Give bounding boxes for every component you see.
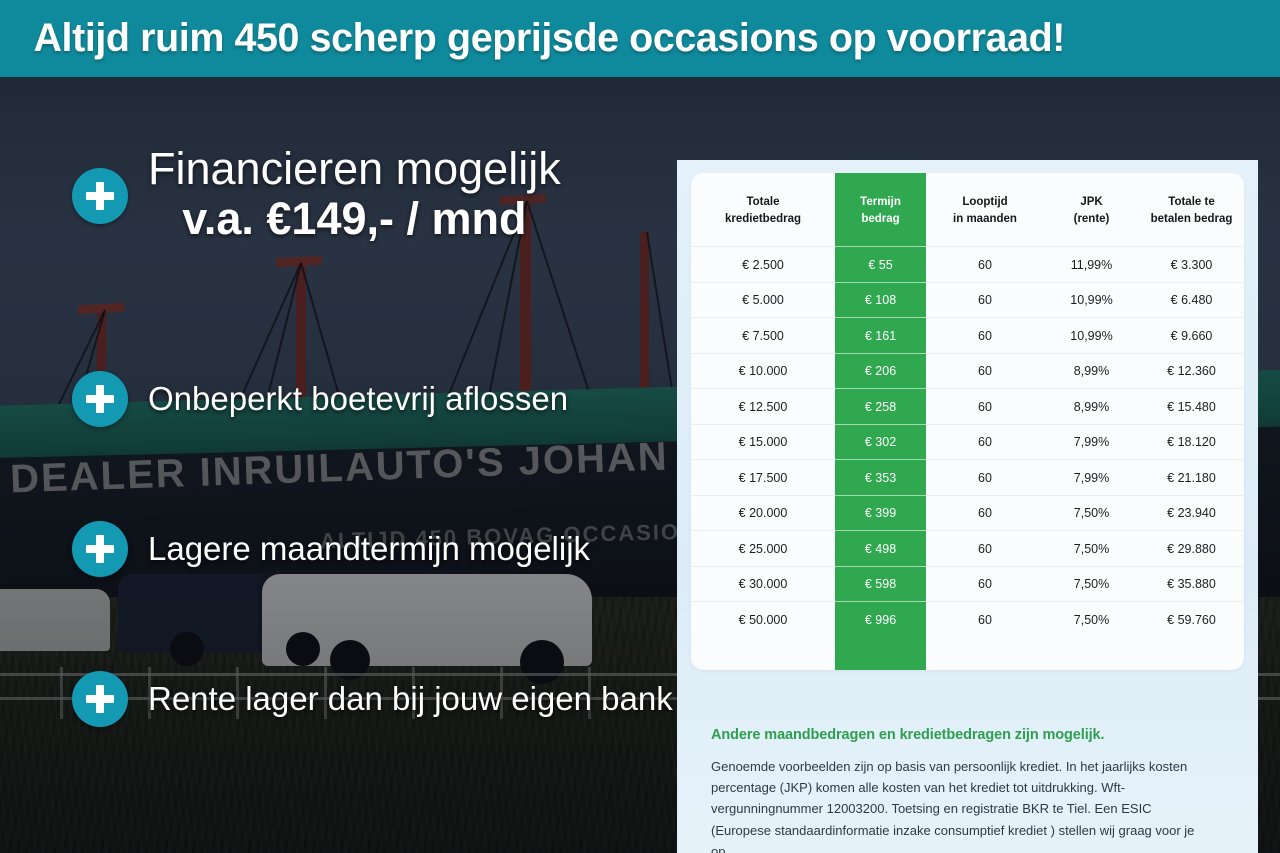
- table-cell: € 25.000: [691, 531, 835, 567]
- usp-aflossen-label: Onbeperkt boetevrij aflossen: [148, 380, 568, 418]
- plus-icon: [72, 371, 128, 427]
- header-line2: kredietbedrag: [725, 213, 801, 225]
- plus-icon: [72, 521, 128, 577]
- table-cell: € 29.880: [1139, 531, 1244, 567]
- table-cell: 10,99%: [1044, 318, 1139, 354]
- header-line1: Totale: [746, 196, 779, 208]
- table-row: € 30.000€ 598607,50%€ 35.880: [691, 566, 1244, 602]
- table-cell: 60: [926, 282, 1044, 318]
- table-row: € 50.000€ 996607,50%€ 59.760: [691, 602, 1244, 638]
- table-row: € 25.000€ 498607,50%€ 29.880: [691, 531, 1244, 567]
- table-header-row: Totale kredietbedrag Termijn bedrag Loop…: [691, 173, 1244, 247]
- header-line2: betalen bedrag: [1151, 213, 1233, 225]
- table-cell: € 108: [835, 282, 926, 318]
- table-cell: 7,99%: [1044, 424, 1139, 460]
- table-cell: 60: [926, 495, 1044, 531]
- usp-financieren-line2: v.a. €149,- / mnd: [148, 192, 561, 246]
- usp-rente-label: Rente lager dan bij jouw eigen bank: [148, 680, 673, 718]
- table-cell: 60: [926, 424, 1044, 460]
- table-cell: € 30.000: [691, 566, 835, 602]
- table-cell: € 161: [835, 318, 926, 354]
- header-line1: Looptijd: [962, 196, 1007, 208]
- rates-table-card: Totale kredietbedrag Termijn bedrag Loop…: [691, 173, 1244, 670]
- table-cell: € 5.000: [691, 282, 835, 318]
- column-header-termijnbedrag: Termijn bedrag: [835, 173, 926, 247]
- table-cell: 10,99%: [1044, 282, 1139, 318]
- usp-list: Financieren mogelijk v.a. €149,- / mnd O…: [0, 77, 690, 853]
- table-cell: € 2.500: [691, 247, 835, 283]
- table-cell: € 18.120: [1139, 424, 1244, 460]
- table-cell: € 996: [835, 602, 926, 638]
- table-cell: € 23.940: [1139, 495, 1244, 531]
- table-cell: 60: [926, 318, 1044, 354]
- plus-icon: [72, 671, 128, 727]
- rates-table: Totale kredietbedrag Termijn bedrag Loop…: [691, 173, 1244, 637]
- table-cell: € 12.500: [691, 389, 835, 425]
- table-cell: 8,99%: [1044, 389, 1139, 425]
- column-header-totale-te-betalen: Totale te betalen bedrag: [1139, 173, 1244, 247]
- table-cell: 60: [926, 389, 1044, 425]
- table-cell: 11,99%: [1044, 247, 1139, 283]
- table-cell: € 7.500: [691, 318, 835, 354]
- table-cell: € 6.480: [1139, 282, 1244, 318]
- table-row: € 15.000€ 302607,99%€ 18.120: [691, 424, 1244, 460]
- disclaimer-title: Andere maandbedragen en kredietbedragen …: [711, 727, 1231, 743]
- header-line1: JPK: [1080, 196, 1102, 208]
- table-cell: 60: [926, 247, 1044, 283]
- table-row: € 2.500€ 556011,99%€ 3.300: [691, 247, 1244, 283]
- table-row: € 20.000€ 399607,50%€ 23.940: [691, 495, 1244, 531]
- table-cell: 7,50%: [1044, 602, 1139, 638]
- table-cell: € 3.300: [1139, 247, 1244, 283]
- hero-stage: DEALER INRUILAUTO'S JOHAN MEURE ALTIJD 4…: [0, 77, 1280, 853]
- usp-item-maandtermijn: Lagere maandtermijn mogelijk: [72, 521, 590, 577]
- table-cell: € 353: [835, 460, 926, 496]
- column-header-looptijd: Looptijd in maanden: [926, 173, 1044, 247]
- table-cell: € 399: [835, 495, 926, 531]
- column-header-kredietbedrag: Totale kredietbedrag: [691, 173, 835, 247]
- column-header-jpk: JPK (rente): [1044, 173, 1139, 247]
- table-cell: € 15.480: [1139, 389, 1244, 425]
- disclaimer-body: Genoemde voorbeelden zijn op basis van p…: [711, 756, 1211, 853]
- usp-item-rente: Rente lager dan bij jouw eigen bank: [72, 671, 673, 727]
- table-cell: € 12.360: [1139, 353, 1244, 389]
- table-row: € 7.500€ 1616010,99%€ 9.660: [691, 318, 1244, 354]
- header-line2: in maanden: [953, 213, 1017, 225]
- table-cell: € 50.000: [691, 602, 835, 638]
- header-line1: Termijn: [860, 196, 901, 208]
- table-cell: € 35.880: [1139, 566, 1244, 602]
- header-line2: (rente): [1074, 213, 1110, 225]
- usp-item-financieren: Financieren mogelijk v.a. €149,- / mnd: [72, 145, 561, 246]
- table-cell: € 498: [835, 531, 926, 567]
- financing-panel: Totale kredietbedrag Termijn bedrag Loop…: [677, 160, 1258, 853]
- usp-maandtermijn-label: Lagere maandtermijn mogelijk: [148, 530, 590, 568]
- table-cell: 7,99%: [1044, 460, 1139, 496]
- table-cell: 8,99%: [1044, 353, 1139, 389]
- table-cell: € 9.660: [1139, 318, 1244, 354]
- header-line1: Totale te: [1168, 196, 1214, 208]
- table-cell: 60: [926, 531, 1044, 567]
- plus-icon: [72, 168, 128, 224]
- promo-banner: Altijd ruim 450 scherp geprijsde occasio…: [0, 0, 1280, 77]
- table-cell: € 59.760: [1139, 602, 1244, 638]
- table-cell: 60: [926, 566, 1044, 602]
- table-cell: € 598: [835, 566, 926, 602]
- table-cell: 60: [926, 460, 1044, 496]
- table-row: € 12.500€ 258608,99%€ 15.480: [691, 389, 1244, 425]
- table-cell: 60: [926, 353, 1044, 389]
- usp-item-aflossen: Onbeperkt boetevrij aflossen: [72, 371, 568, 427]
- table-cell: € 206: [835, 353, 926, 389]
- table-cell: 7,50%: [1044, 495, 1139, 531]
- banner-headline: Altijd ruim 450 scherp geprijsde occasio…: [0, 16, 1065, 61]
- table-row: € 10.000€ 206608,99%€ 12.360: [691, 353, 1244, 389]
- header-line2: bedrag: [861, 213, 899, 225]
- table-row: € 5.000€ 1086010,99%€ 6.480: [691, 282, 1244, 318]
- table-cell: € 302: [835, 424, 926, 460]
- table-cell: 7,50%: [1044, 566, 1139, 602]
- table-cell: € 21.180: [1139, 460, 1244, 496]
- rates-table-body: € 2.500€ 556011,99%€ 3.300€ 5.000€ 10860…: [691, 247, 1244, 638]
- table-row: € 17.500€ 353607,99%€ 21.180: [691, 460, 1244, 496]
- table-cell: € 258: [835, 389, 926, 425]
- table-cell: € 55: [835, 247, 926, 283]
- table-cell: € 17.500: [691, 460, 835, 496]
- table-cell: 60: [926, 602, 1044, 638]
- table-cell: 7,50%: [1044, 531, 1139, 567]
- table-cell: € 10.000: [691, 353, 835, 389]
- table-cell: € 20.000: [691, 495, 835, 531]
- table-cell: € 15.000: [691, 424, 835, 460]
- usp-financieren-line1: Financieren mogelijk: [148, 145, 561, 192]
